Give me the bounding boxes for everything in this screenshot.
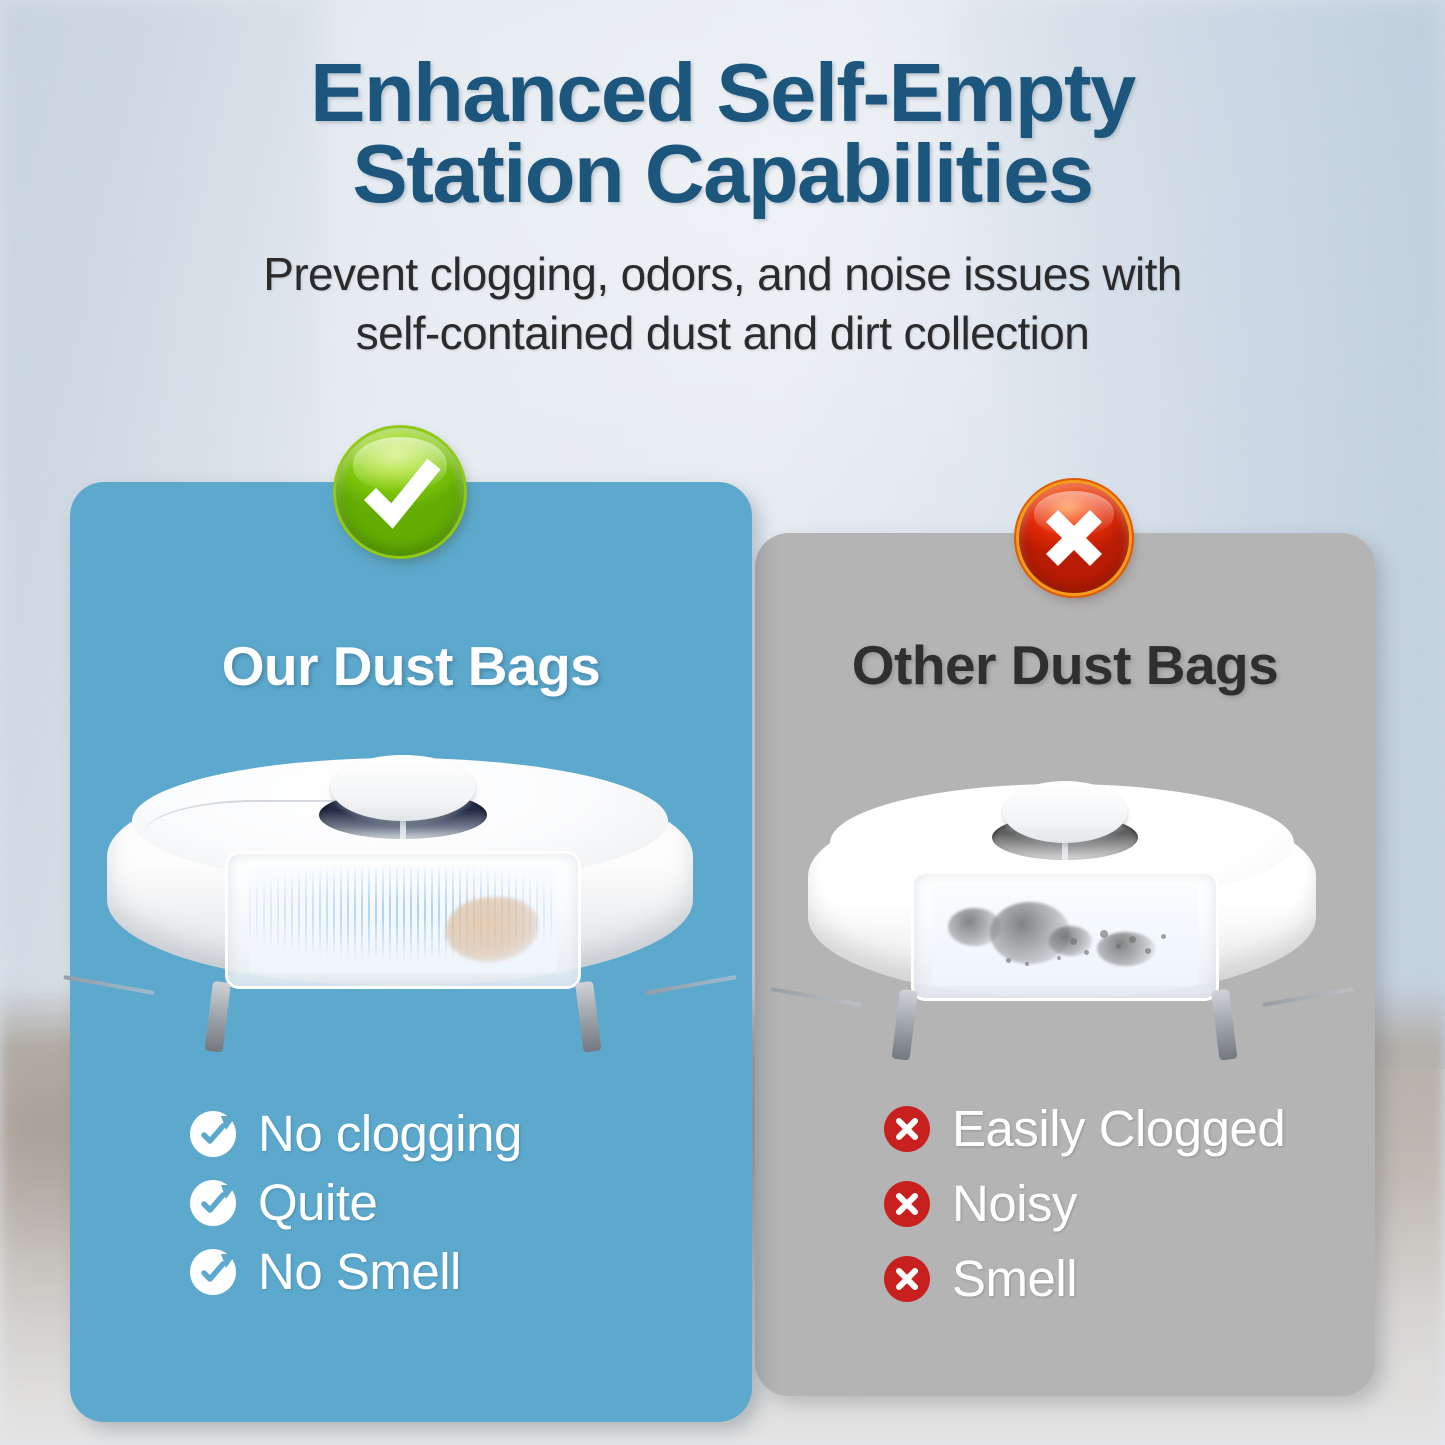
dirty-dust-contents [932, 886, 1198, 985]
robot-vacuum-lidar-cap [1003, 781, 1127, 843]
page-title-line-1: Enhanced Self-Empty [310, 46, 1135, 139]
dust-bin-window [932, 886, 1198, 985]
list-item-label: Quite [258, 1177, 377, 1228]
robot-vacuum-wheel-right [576, 981, 602, 1053]
list-item-label: Easily Clogged [952, 1103, 1285, 1154]
list-item-label: Noisy [952, 1178, 1077, 1229]
robot-vacuum-dust-bin [225, 851, 580, 989]
our-dust-bags-title: Our Dust Bags [70, 634, 752, 698]
cross-badge-icon [1019, 483, 1129, 593]
list-item: No Smell [190, 1246, 522, 1297]
list-item: Easily Clogged [884, 1103, 1285, 1154]
other-dust-bags-feature-list: Easily Clogged Noisy Smell [884, 1103, 1285, 1328]
robot-vacuum-wheel-right [1211, 989, 1237, 1061]
robot-vacuum-wheel-left [204, 981, 230, 1053]
page-subtitle-line-1: Prevent clogging, odors, and noise issue… [263, 248, 1182, 300]
page-title-line-2: Station Capabilities [352, 127, 1092, 220]
check-badge-icon [336, 428, 464, 556]
list-item: Noisy [884, 1178, 1285, 1229]
other-dust-bags-product-image [792, 778, 1332, 1060]
robot-vacuum-lidar-cap [331, 755, 475, 821]
page-subtitle-line-2: self-contained dust and dirt collection [356, 307, 1090, 359]
cross-circle-icon [884, 1181, 930, 1227]
robot-vacuum-wheel-left [892, 989, 918, 1061]
list-item: No clogging [190, 1108, 522, 1159]
check-circle-icon [190, 1180, 236, 1226]
list-item-label: Smell [952, 1253, 1077, 1304]
robot-vacuum-dust-bin [911, 871, 1219, 1001]
check-circle-icon [190, 1249, 236, 1295]
list-item: Quite [190, 1177, 522, 1228]
list-item-label: No clogging [258, 1108, 522, 1159]
list-item: Smell [884, 1253, 1285, 1304]
header: Enhanced Self-Empty Station Capabilities… [0, 52, 1445, 362]
page-subtitle: Prevent clogging, odors, and noise issue… [148, 245, 1298, 363]
our-dust-bags-feature-list: No clogging Quite No Smell [190, 1108, 522, 1315]
check-circle-icon [190, 1111, 236, 1157]
our-dust-bags-product-image [88, 752, 712, 1052]
page-title: Enhanced Self-Empty Station Capabilities [213, 52, 1233, 215]
infographic-canvas: Enhanced Self-Empty Station Capabilities… [0, 0, 1445, 1445]
list-item-label: No Smell [258, 1246, 461, 1297]
cross-circle-icon [884, 1256, 930, 1302]
dust-bin-window [249, 867, 557, 973]
cross-circle-icon [884, 1106, 930, 1152]
other-dust-bags-title: Other Dust Bags [755, 633, 1375, 697]
